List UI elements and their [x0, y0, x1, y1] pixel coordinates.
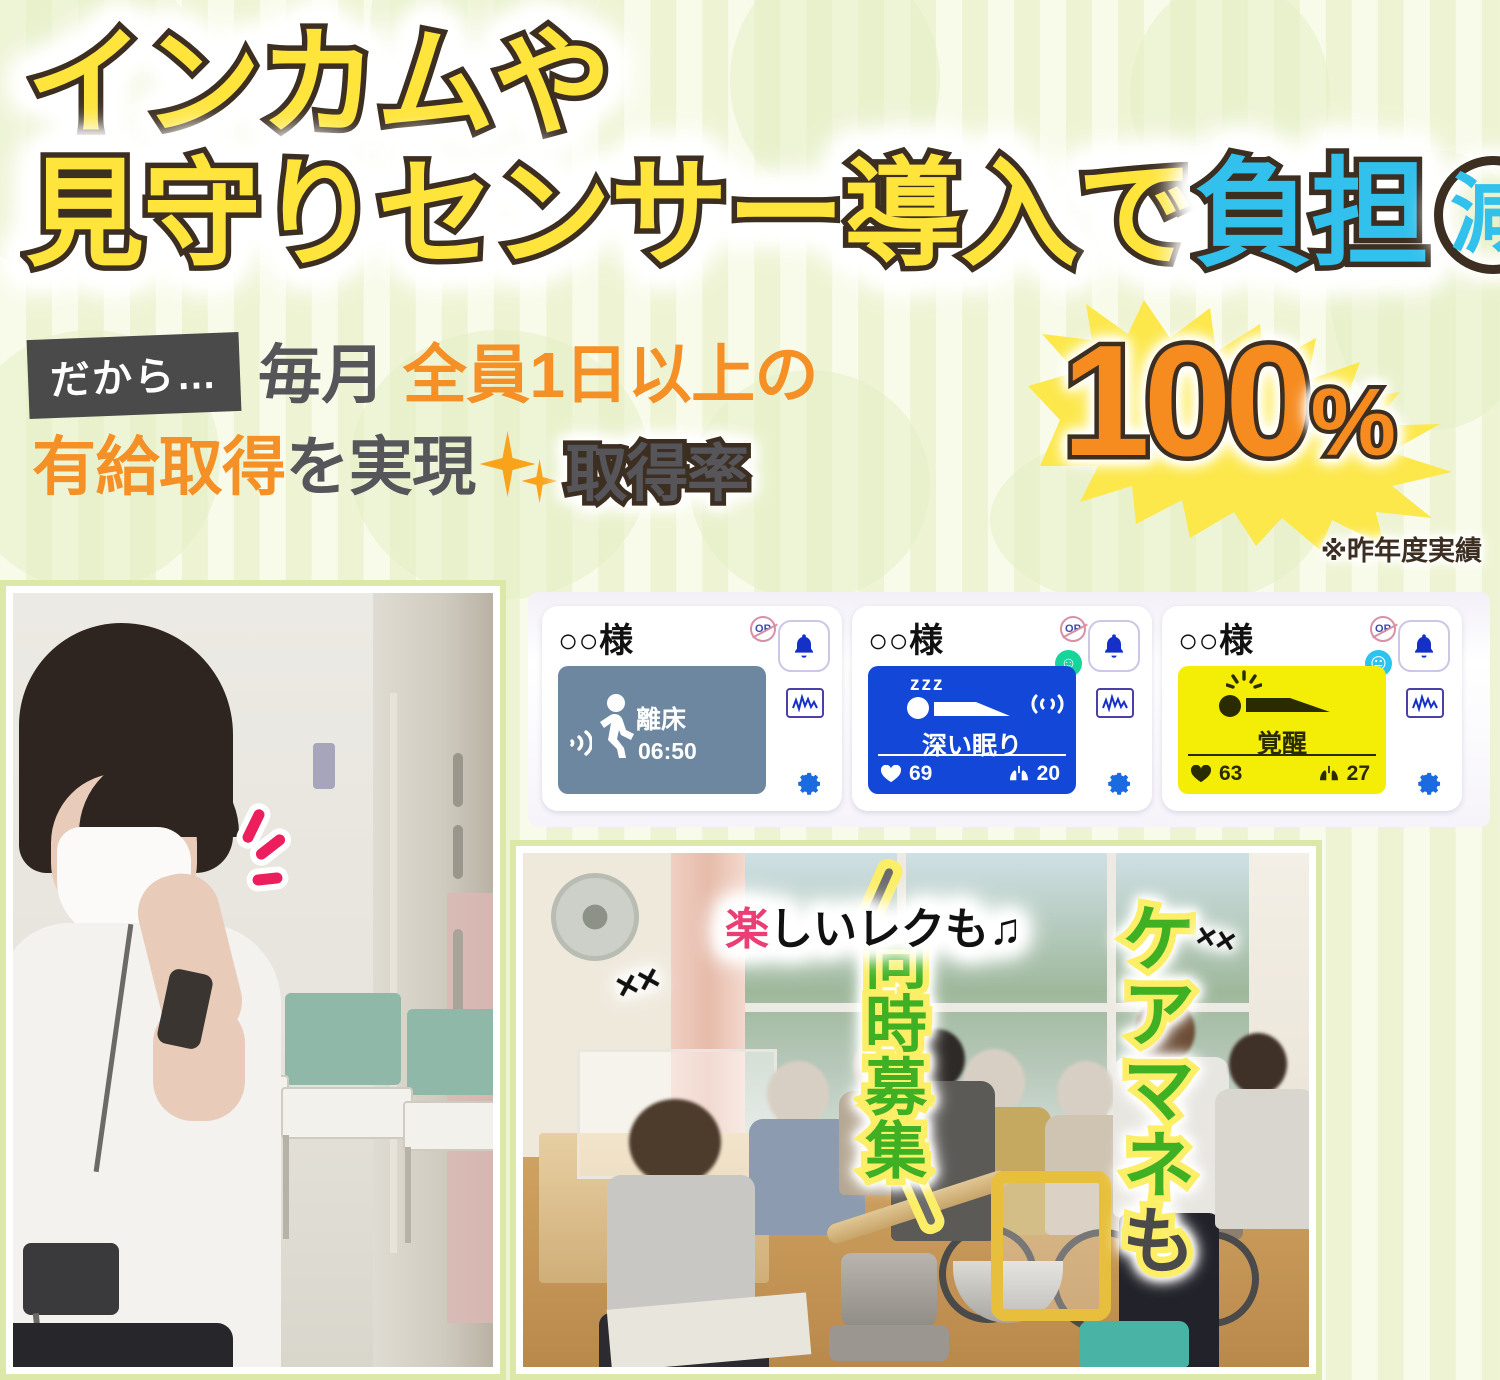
vitals-row: 63 27: [1188, 762, 1376, 786]
sparkle-large-icon: [480, 431, 536, 497]
rate-burst-badge: 100 % ※昨年度実績: [1020, 300, 1490, 550]
emphasis-line: [241, 807, 267, 844]
headline-sensor-text: 見守りセンサー導入: [26, 156, 1077, 274]
monitoring-panel: ○○様 OP 離床 06:50: [528, 592, 1490, 827]
walking-person-icon: [588, 694, 640, 760]
lying-person-icon: [1218, 692, 1336, 718]
gen-badge-char: 減: [1450, 172, 1500, 258]
x-doodle-mark: ××: [1192, 916, 1239, 962]
wall-hook: [313, 743, 335, 789]
awake-rays-icon: [1226, 670, 1262, 694]
settings-button[interactable]: [790, 763, 824, 797]
resident-name: ○○様: [868, 624, 943, 658]
status-tile-deep-sleep: zzz 深い眠り 69: [868, 666, 1076, 794]
vertical-copy-care: ケアマネ: [1111, 900, 1194, 1202]
lungs-icon: [1008, 765, 1030, 783]
photo-staff-figure: [13, 623, 303, 1367]
burst-number-group: 100 %: [1062, 322, 1396, 480]
heart-icon: [1190, 765, 1212, 783]
gear-icon: [1410, 763, 1444, 797]
headline-futan-text: 負担: [1194, 156, 1428, 274]
vitals-divider: [1188, 754, 1376, 756]
photo-wall-fan: [551, 873, 639, 961]
breath-rate-group: 27: [1318, 762, 1370, 786]
rate-number: 100: [1062, 322, 1307, 480]
vertical-copy-line-b: 同時募集: [858, 928, 921, 1181]
emphasis-line: [252, 872, 283, 886]
chart-icon: [1412, 694, 1438, 712]
vitals-row: 69 20: [878, 762, 1066, 786]
photo-door-handle: [453, 753, 463, 807]
vertical-copy-mo: も: [1111, 1202, 1194, 1277]
photo-staff-intercom-inner: [13, 593, 493, 1367]
sub-headline-row-1: だから… 毎月 全員1日以上の: [28, 336, 1038, 415]
chart-icon: [1102, 694, 1128, 712]
monitor-card[interactable]: ○○様 OP ☺ zzz 深い眠り: [852, 606, 1152, 811]
resident-name: ○○様: [1178, 624, 1253, 658]
staff-head: [629, 1099, 721, 1185]
alert-bell-button[interactable]: [778, 620, 830, 672]
emphasis-line: [254, 832, 288, 862]
sub-jitsugen-text: を実現: [285, 433, 475, 502]
staff-trousers: [13, 1323, 233, 1367]
chair-seat: [403, 1101, 493, 1151]
bell-icon: [790, 631, 818, 661]
vitals-chart-button[interactable]: [1406, 688, 1444, 718]
alert-bell-button[interactable]: [1088, 620, 1140, 672]
monitor-card[interactable]: ○○様 OP 離床 06:50: [542, 606, 842, 811]
chair-back: [407, 1009, 493, 1095]
resident-name: ○○様: [558, 624, 633, 658]
headline-line-2: 見守りセンサー導入 で 負担 減: [26, 156, 1476, 274]
status-text: 離床: [636, 700, 686, 736]
sub-yukyu-text: 有給取得: [32, 433, 285, 502]
status-tile-awake: 覚醒 63 27: [1178, 666, 1386, 794]
signal-waves-icon: [566, 726, 592, 760]
sub-headline: だから… 毎月 全員1日以上の 有給取得 を実現 取得率: [28, 336, 1038, 513]
lungs-icon: [1318, 765, 1340, 783]
burst-footnote: ※昨年度実績: [1321, 529, 1482, 568]
breath-rate-value: 20: [1037, 762, 1060, 786]
op-disabled-icon: OP: [750, 616, 776, 642]
gen-badge: 減: [1434, 156, 1500, 274]
vitals-chart-button[interactable]: [1096, 688, 1134, 718]
gear-icon: [1100, 763, 1134, 797]
sparkle-icon: [478, 433, 564, 503]
heart-rate-group: 69: [880, 762, 932, 786]
dakara-tag: だから…: [27, 332, 242, 419]
breath-rate-value: 27: [1347, 762, 1370, 786]
recreation-caption-kanji: 楽: [725, 905, 769, 954]
signal-waves-icon: [1028, 690, 1068, 718]
sub-headline-row-2: 有給取得 を実現 取得率: [32, 423, 1038, 513]
gear-icon: [790, 763, 824, 797]
status-text: 深い眠り: [868, 726, 1076, 762]
emphasis-lines-icon: [238, 806, 298, 896]
chair-leg: [405, 1147, 411, 1243]
op-disabled-icon: OP: [1370, 616, 1396, 642]
heart-rate-value: 63: [1219, 762, 1242, 786]
headline-de-text: で: [1077, 156, 1194, 274]
rate-label: 取得率: [566, 423, 748, 513]
recreation-caption-rest: しいレクも♫: [769, 905, 1022, 954]
recreation-caption: 楽しいレクも♫: [725, 893, 1022, 957]
rate-percent-sign: %: [1311, 375, 1396, 471]
status-time: 06:50: [638, 738, 697, 765]
op-disabled-icon: OP: [1060, 616, 1086, 642]
resident-head: [767, 1061, 829, 1127]
photo-staff-intercom: [6, 586, 500, 1374]
heart-rate-value: 69: [909, 762, 932, 786]
zzz-text: zzz: [910, 674, 945, 696]
headline-line-1: インカムや: [26, 16, 1476, 152]
bell-icon: [1410, 631, 1438, 661]
photo-green-basin: [1079, 1321, 1189, 1367]
heart-icon: [880, 765, 902, 783]
heart-rate-group: 63: [1190, 762, 1242, 786]
chart-icon: [792, 694, 818, 712]
breath-rate-group: 20: [1008, 762, 1060, 786]
vitals-divider: [878, 754, 1066, 756]
settings-button[interactable]: [1100, 763, 1134, 797]
status-tile-out-of-bed: 離床 06:50: [558, 666, 766, 794]
settings-button[interactable]: [1410, 763, 1444, 797]
sub-maitsuki-text: 毎月: [258, 341, 385, 410]
monitor-card[interactable]: ○○様 OP 😐 覚醒: [1162, 606, 1462, 811]
sub-zenin-text: 全員1日以上の: [403, 341, 818, 410]
photo-mortar-base: [829, 1325, 949, 1361]
bell-icon: [1100, 631, 1128, 661]
alert-bell-button[interactable]: [1398, 620, 1450, 672]
sleeping-person-icon: [906, 696, 1016, 722]
staff-belt-pouch: [23, 1243, 119, 1315]
photo-door-handle: [453, 825, 463, 879]
vertical-copy-line-a: ケアマネも: [1115, 900, 1190, 1277]
headline: インカムや 見守りセンサー導入 で 負担 減: [26, 16, 1476, 274]
headline-line-1-text: インカムや: [26, 25, 610, 143]
vitals-chart-button[interactable]: [786, 688, 824, 718]
